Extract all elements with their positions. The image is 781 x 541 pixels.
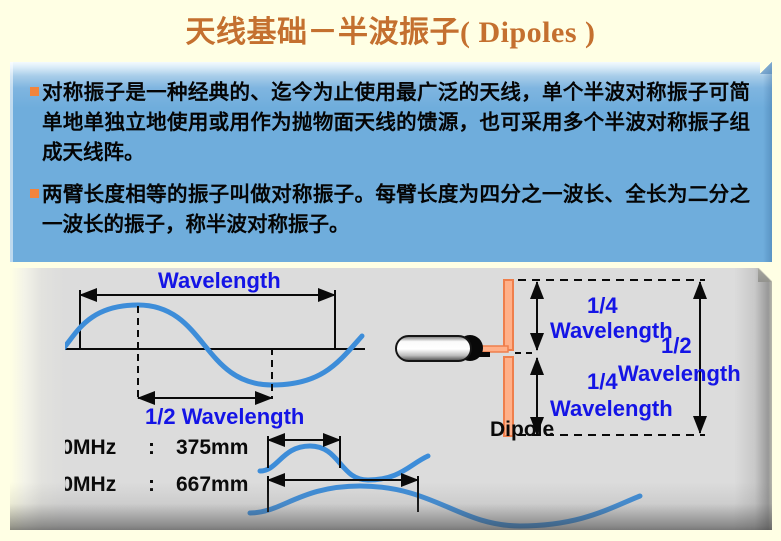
label-half-wavelength-2: Wavelength [618, 361, 741, 387]
table-row: 800MHz : 375mm [38, 436, 248, 460]
square-bullet-icon [30, 189, 39, 198]
slide-title-band: 天线基础－半波振子( Dipoles ) [0, 0, 781, 58]
label-wavelength-full: Wavelength [158, 268, 281, 294]
square-bullet-icon [30, 87, 39, 96]
diagram-panel: Wavelength 1/2 Wavelength 1/4 Wavelength… [10, 268, 772, 530]
table-row: 450MHz : 667mm [38, 473, 248, 497]
label-half-wavelength-1: 1/2 [661, 333, 692, 359]
label-wavelength-half: 1/2 Wavelength [145, 404, 304, 430]
panel-bevel-corner [760, 62, 772, 74]
label-upper-quarter-1: 1/4 [587, 293, 618, 319]
panel-bevel-right [763, 62, 772, 262]
row-frequency: 800MHz [38, 436, 148, 460]
label-lower-quarter-1: 1/4 [587, 369, 618, 395]
body-text-panel: 对称振子是一种经典的、迄今为止使用最广泛的天线，单个半波对称振子可简单地单独立地… [10, 62, 772, 262]
row-wavelength: 667mm [176, 473, 248, 497]
row-separator: : [148, 436, 176, 460]
slide-root: 天线基础－半波振子( Dipoles ) 对称振子是一种经典的、迄今为止使用最广… [0, 0, 781, 541]
label-upper-quarter-2: Wavelength [550, 318, 673, 344]
page-title: 天线基础－半波振子( Dipoles ) [186, 7, 596, 51]
bullet-list: 对称振子是一种经典的、迄今为止使用最广泛的天线，单个半波对称振子可简单地单独立地… [30, 78, 750, 252]
row-frequency: 450MHz [38, 473, 148, 497]
list-item: 对称振子是一种经典的、迄今为止使用最广泛的天线，单个半波对称振子可简单地单独立地… [30, 78, 750, 168]
bullet-text-2: 两臂长度相等的振子叫做对称振子。每臂长度为四分之一波长、全长为二分之一波长的振子… [42, 180, 750, 240]
label-lower-quarter-2: Wavelength [550, 396, 673, 422]
list-item: 两臂长度相等的振子叫做对称振子。每臂长度为四分之一波长、全长为二分之一波长的振子… [30, 180, 750, 240]
row-wavelength: 375mm [176, 436, 248, 460]
row-separator: : [148, 473, 176, 497]
label-dipole: Dipole [490, 418, 554, 442]
bullet-text-1: 对称振子是一种经典的、迄今为止使用最广泛的天线，单个半波对称振子可简单地单独立地… [42, 78, 750, 168]
